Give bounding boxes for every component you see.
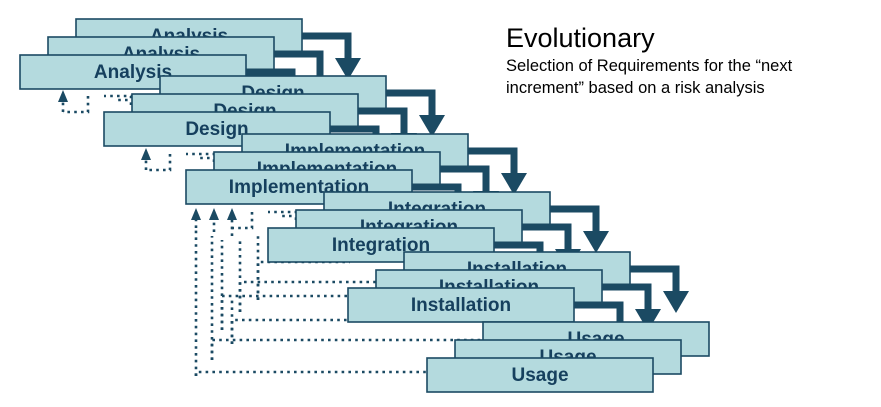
stage-group-usage: Usage Usage Usage <box>427 322 709 392</box>
feedback-path-impl-to-design-b <box>186 154 214 162</box>
feedback-arrowhead-impl-2 <box>209 208 219 220</box>
caption-body: Selection of Requirements for the “next … <box>506 56 874 100</box>
flow-arrowhead-s2u-3 <box>663 291 689 313</box>
evolutionary-waterfall-diagram: Analysis Analysis Analysis Design Design <box>0 0 881 407</box>
feedback-arrowhead-impl-3 <box>227 208 237 220</box>
stage-label-design-increment-1: Design <box>185 119 248 140</box>
caption-block: Evolutionary Selection of Requirements f… <box>506 24 874 100</box>
feedback-arrowhead-analysis <box>58 90 68 102</box>
feedback-path-impl-to-design-c <box>146 154 170 170</box>
stage-label-usage-increment-1: Usage <box>511 365 568 386</box>
feedback-path-integ-to-impl-b <box>268 212 296 220</box>
stage-group-installation-front: Installation <box>348 288 574 322</box>
feedback-arrowhead-design <box>141 148 151 160</box>
caption-title: Evolutionary <box>506 24 874 52</box>
feedback-path-design-to-analysis-c <box>63 96 88 112</box>
stage-label-installation-increment-1: Installation <box>411 295 511 316</box>
feedback-arrowhead-impl-1 <box>191 208 201 220</box>
feedback-path-usage-long-c <box>196 372 430 376</box>
flow-arrowhead-g2s-3 <box>583 231 609 253</box>
